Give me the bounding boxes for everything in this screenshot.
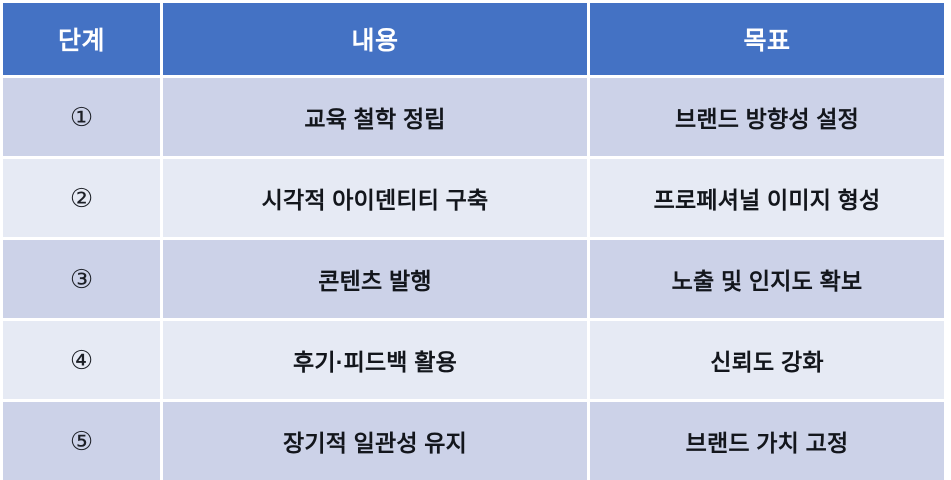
cell-goal: 브랜드 가치 고정 (590, 402, 944, 480)
table-row: ⑤ 장기적 일관성 유지 브랜드 가치 고정 (3, 402, 944, 480)
table-body: ① 교육 철학 정립 브랜드 방향성 설정 ② 시각적 아이덴티티 구축 프로페… (3, 78, 944, 480)
table-row: ④ 후기·피드백 활용 신뢰도 강화 (3, 321, 944, 402)
stage-table-container: 단계 내용 목표 ① 교육 철학 정립 브랜드 방향성 설정 ② 시각적 아이덴… (3, 3, 944, 468)
table-header: 단계 내용 목표 (3, 3, 944, 78)
column-header-content: 내용 (163, 3, 590, 78)
cell-goal: 프로페셔널 이미지 형성 (590, 159, 944, 240)
column-header-step: 단계 (3, 3, 163, 78)
table-header-row: 단계 내용 목표 (3, 3, 944, 78)
table-row: ③ 콘텐츠 발행 노출 및 인지도 확보 (3, 240, 944, 321)
cell-content: 장기적 일관성 유지 (163, 402, 590, 480)
cell-content: 콘텐츠 발행 (163, 240, 590, 321)
cell-step-number: ⑤ (3, 402, 163, 480)
cell-goal: 브랜드 방향성 설정 (590, 78, 944, 159)
column-header-goal: 목표 (590, 3, 944, 78)
stage-table: 단계 내용 목표 ① 교육 철학 정립 브랜드 방향성 설정 ② 시각적 아이덴… (3, 3, 944, 480)
cell-step-number: ④ (3, 321, 163, 402)
table-row: ② 시각적 아이덴티티 구축 프로페셔널 이미지 형성 (3, 159, 944, 240)
cell-step-number: ① (3, 78, 163, 159)
cell-step-number: ② (3, 159, 163, 240)
cell-content: 교육 철학 정립 (163, 78, 590, 159)
cell-content: 후기·피드백 활용 (163, 321, 590, 402)
cell-content: 시각적 아이덴티티 구축 (163, 159, 590, 240)
cell-goal: 노출 및 인지도 확보 (590, 240, 944, 321)
cell-goal: 신뢰도 강화 (590, 321, 944, 402)
table-row: ① 교육 철학 정립 브랜드 방향성 설정 (3, 78, 944, 159)
cell-step-number: ③ (3, 240, 163, 321)
